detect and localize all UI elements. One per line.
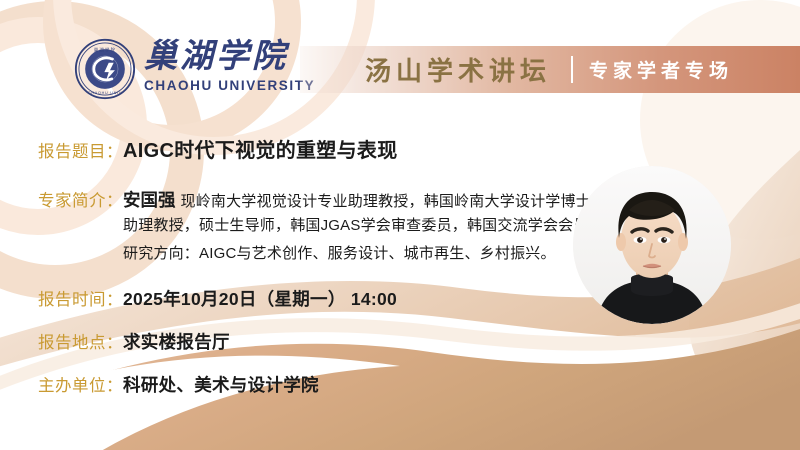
- poster-root: 巢湖学院 CHAOHU UNIV 巢湖学院 CHAOHU UNIVERSITY …: [0, 0, 800, 450]
- event-banner: 汤山学术讲坛 专家学者专场: [300, 46, 800, 93]
- report-time-value: 2025年10月20日（星期一） 14:00: [123, 286, 397, 311]
- row-report-place: 报告地点： 求实楼报告厅: [38, 329, 598, 354]
- report-title-label: 报告题目：: [38, 138, 123, 162]
- speaker-name: 安国强: [123, 187, 176, 212]
- banner-main-title: 汤山学术讲坛: [365, 51, 551, 88]
- row-report-time: 报告时间： 2025年10月20日（星期一） 14:00: [38, 286, 598, 311]
- report-place-value: 求实楼报告厅: [123, 329, 230, 354]
- row-speaker-bio: 专家简介： 安国强 现岭南大学视觉设计专业助理教授，韩国岭南大学设计学博士， 助…: [38, 187, 598, 268]
- speaker-bio-label: 专家简介：: [38, 187, 123, 211]
- speaker-portrait: [573, 166, 731, 324]
- row-report-title: 报告题目： AIGC时代下视觉的重塑与表现: [38, 134, 598, 163]
- svg-text:巢湖学院: 巢湖学院: [94, 47, 116, 54]
- speaker-bio-line-3: 研究方向：AIGC与艺术创作、服务设计、城市再生、乡村振兴。: [123, 240, 598, 268]
- poster-header: 巢湖学院 CHAOHU UNIV 巢湖学院 CHAOHU UNIVERSITY …: [0, 0, 800, 120]
- university-name: 巢湖学院 CHAOHU UNIVERSITY: [144, 40, 304, 93]
- organizer-value: 科研处、美术与设计学院: [123, 372, 319, 397]
- university-name-cn: 巢湖学院: [144, 40, 304, 75]
- speaker-bio-line-1: 现岭南大学视觉设计专业助理教授，韩国岭南大学设计学博士，: [181, 190, 607, 211]
- chaohu-university-seal-icon: 巢湖学院 CHAOHU UNIV: [74, 38, 136, 100]
- organizer-label: 主办单位：: [38, 372, 123, 396]
- report-title-value: AIGC时代下视觉的重塑与表现: [123, 134, 398, 163]
- university-name-en: CHAOHU UNIVERSITY: [144, 78, 304, 93]
- report-time-label: 报告时间：: [38, 286, 123, 310]
- banner-divider: [571, 56, 573, 83]
- svg-text:CHAOHU UNIV: CHAOHU UNIV: [88, 91, 122, 95]
- report-place-label: 报告地点：: [38, 329, 123, 353]
- speaker-bio-line-2: 助理教授，硕士生导师，韩国JGAS学会审查委员，韩国交流学会会员。: [123, 212, 598, 240]
- content-rows: 报告题目： AIGC时代下视觉的重塑与表现 专家简介： 安国强 现岭南大学视觉设…: [38, 134, 598, 397]
- banner-subtitle: 专家学者专场: [589, 56, 733, 83]
- row-organizer: 主办单位： 科研处、美术与设计学院: [38, 372, 598, 397]
